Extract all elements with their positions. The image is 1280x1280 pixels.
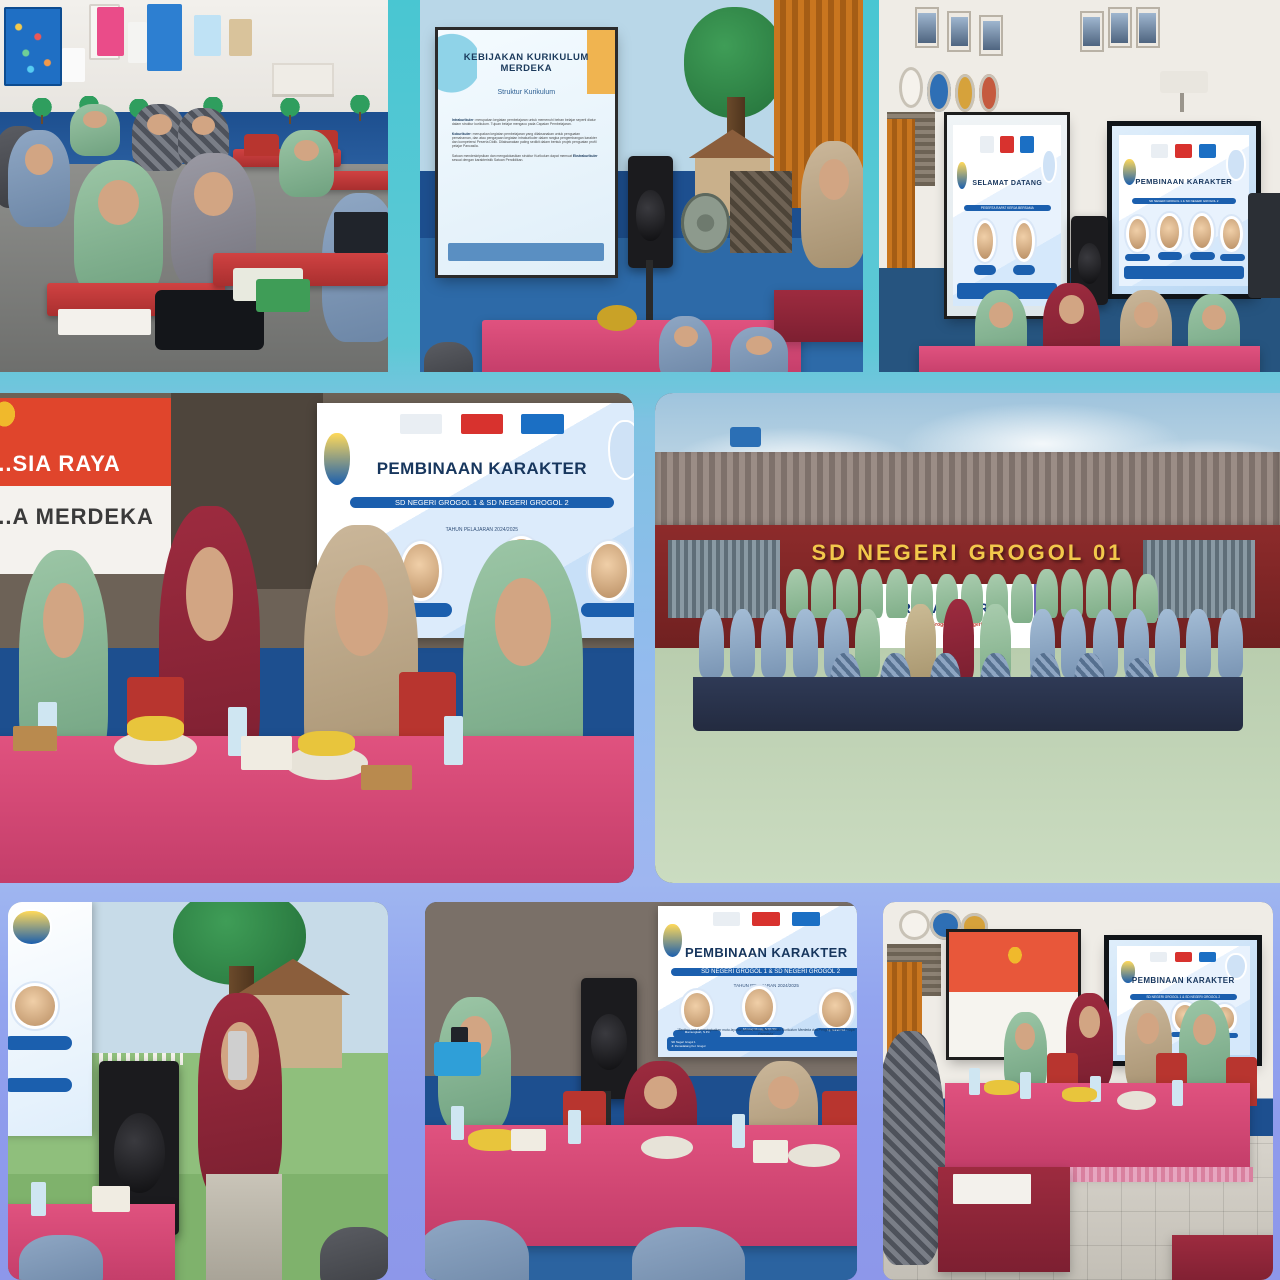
photo-collage: KEBIJAKAN KURIKULUM MERDEKA Struktur Kur… xyxy=(0,0,1280,1280)
microphone-icon xyxy=(228,1031,247,1080)
screen-year: TAHUN PELAJARAN 2024/2025 xyxy=(350,527,614,533)
pembinaan-screen: PEMBINAAN KARAKTER SD NEGERI GROGOL 1 & … xyxy=(1112,126,1256,293)
photo-bottom-right: PEMBINAAN KARAKTER SD NEGERI GROGOL 1 & … xyxy=(883,902,1273,1280)
slide-term-3: Ekstrakurikuler xyxy=(573,154,598,158)
photo-mid-right: SD NEGERI GROGOL 01 RAPAT KERJA SD Neger… xyxy=(655,393,1280,883)
slide-text-3b: sesuai dengan karakteristik Satuan Pendi… xyxy=(452,158,523,162)
photo-top-left xyxy=(0,0,388,372)
screen-title: PEMBINAAN KARAKTER xyxy=(667,945,857,960)
welcome-subtitle: PESERTA RAPAT KERJA BERSAMA xyxy=(964,205,1051,211)
screen-subtitle: SD NEGERI GROGOL 1 & SD NEGERI GROGOL 2 xyxy=(350,497,614,508)
fan-icon xyxy=(681,193,730,253)
pembinaan-subtitle: SD NEGERI GROGOL 1 & SD NEGERI GROGOL 2 xyxy=(1132,198,1236,204)
screen-subtitle: SD NEGERI GROGOL 1 & SD NEGERI GROGOL 2 xyxy=(671,968,857,976)
pa-speaker-icon xyxy=(581,978,637,1099)
screen-subtitle: SD NEGERI GROGOL 1 & SD NEGERI GROGOL 2 xyxy=(1130,994,1237,1000)
flag-line-1: ...SIA RAYA xyxy=(0,451,174,477)
address-line-2: Jl. Pemadatang Kel. Grogol xyxy=(671,1044,705,1048)
pembinaan-title: PEMBINAAN KARAKTER xyxy=(1124,177,1244,186)
garuda-icon xyxy=(0,401,18,429)
slide-title: KEBIJAKAN KURIKULUM MERDEKA xyxy=(448,52,604,74)
flag-line-2: ...A MERDEKA xyxy=(0,504,174,530)
slide-text-1: : merupakan kegiatan pembelajaran untuk … xyxy=(452,118,596,126)
pembinaan-screen: PEMBINAAN KARAKTER SD NEGERI GROGOL 1 & … xyxy=(658,906,857,1057)
side-banner xyxy=(8,902,92,1136)
flag-slide: ...SIA RAYA ...A MERDEKA xyxy=(0,398,178,574)
projector-screen: KEBIJAKAN KURIKULUM MERDEKA Struktur Kur… xyxy=(438,30,615,276)
welcome-title: SELAMAT DATANG xyxy=(957,180,1057,187)
photo-top-mid: KEBIJAKAN KURIKULUM MERDEKA Struktur Kur… xyxy=(420,0,863,372)
pa-speaker-icon xyxy=(628,156,672,268)
clock-icon xyxy=(899,67,923,108)
slide-text-2: : merupakan kegiatan pembelajaran yang d… xyxy=(452,132,597,149)
screen-year: TAHUN PELAJARAN 2024/2025 xyxy=(680,983,853,988)
photo-top-right: SELAMAT DATANG PESERTA RAPAT KERJA BERSA… xyxy=(879,0,1280,372)
slide-progress-bar xyxy=(448,243,604,260)
photo-bottom-mid: PEMBINAAN KARAKTER SD NEGERI GROGOL 1 & … xyxy=(425,902,857,1280)
screen-quote: "Berilmu untuk meningkatkan mutu layanan… xyxy=(676,1028,857,1036)
photo-bottom-left xyxy=(8,902,388,1280)
welcome-screen: SELAMAT DATANG PESERTA RAPAT KERJA BERSA… xyxy=(947,115,1067,316)
screen-title: PEMBINAAN KARAKTER xyxy=(1122,976,1245,985)
slide-subtitle: Struktur Kurikulum xyxy=(448,89,604,96)
photo-mid-left: ...SIA RAYA ...A MERDEKA PEMBINAAN KARAK… xyxy=(0,393,634,883)
clock-icon xyxy=(899,910,930,940)
water-tank-icon xyxy=(730,427,761,447)
garuda-icon xyxy=(1007,947,1022,964)
screen-title: PEMBINAAN KARAKTER xyxy=(330,459,633,479)
